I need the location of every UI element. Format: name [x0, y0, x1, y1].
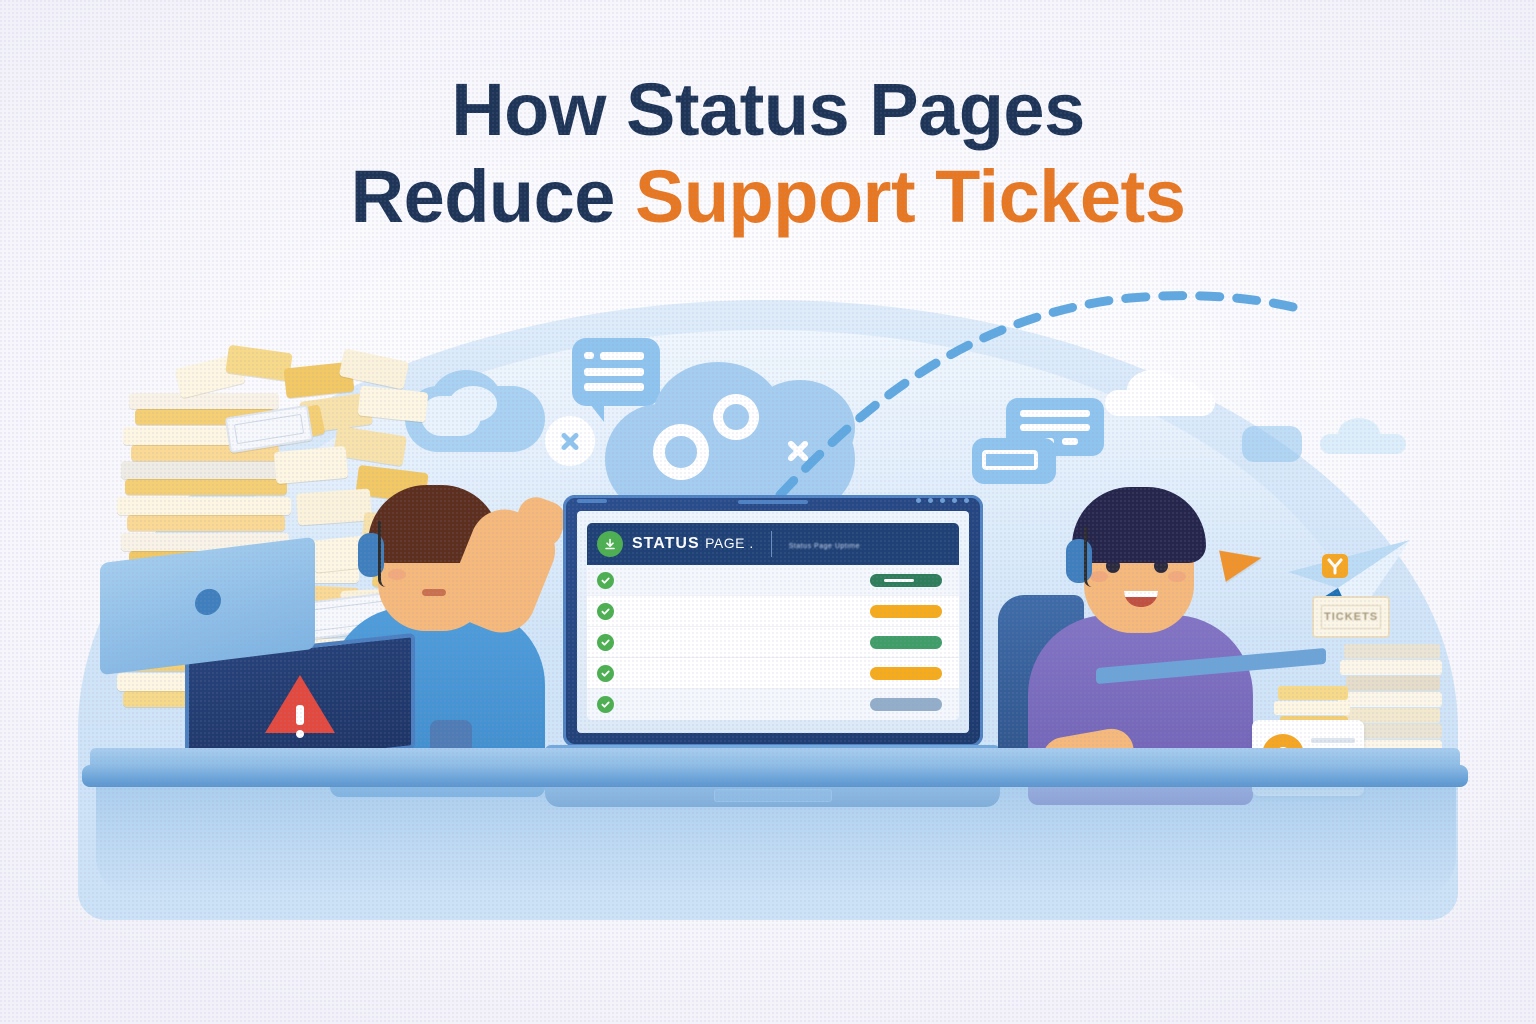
bubble-line: [600, 352, 644, 360]
x-icon: [545, 416, 595, 466]
illustration-scene: STATUS PAGE . Status Page Uptime: [0, 250, 1536, 910]
bubble-line: [1020, 424, 1090, 431]
ticket: [1340, 660, 1442, 675]
download-circle-icon: [597, 531, 623, 557]
status-pill-cell: [863, 698, 949, 711]
ticket-stack-label: TICKETS: [1312, 596, 1390, 638]
page-title: How Status Pages Reduce Support Tickets: [0, 72, 1536, 235]
envelope: [125, 479, 287, 495]
ticket: [1338, 692, 1442, 707]
headline-line-2-highlight: Support Tickets: [635, 155, 1185, 238]
status-page-screen: STATUS PAGE . Status Page Uptime: [577, 511, 969, 733]
table-row[interactable]: [587, 596, 959, 627]
bubble-line: [584, 352, 594, 359]
laptop-lid: STATUS PAGE . Status Page Uptime: [563, 495, 983, 747]
agent-hair: [1072, 487, 1206, 563]
check-circle-icon: [597, 603, 614, 620]
check-circle-icon: [597, 572, 614, 589]
ticket: [1344, 644, 1440, 659]
laptop-indicator-dots: [916, 498, 969, 503]
status-pill-cell: [863, 636, 949, 649]
status-badge[interactable]: [870, 667, 942, 680]
status-page-title-bold: STATUS: [632, 535, 700, 552]
header-divider: [771, 531, 772, 557]
check-circle-icon: [597, 665, 614, 682]
headline-line-2: Reduce Support Tickets: [0, 159, 1536, 234]
ticket: [1278, 686, 1348, 700]
headline-line-2-prefix: Reduce: [351, 155, 635, 238]
gear-icon: [653, 424, 709, 480]
status-page-meta: Status Page Uptime: [789, 535, 949, 553]
card-line: [1311, 738, 1355, 743]
status-pill-cell: [863, 667, 949, 680]
status-page-title: STATUS PAGE .: [632, 535, 754, 553]
envelope: [117, 497, 291, 515]
table-row[interactable]: [587, 565, 959, 596]
ticket: [1346, 676, 1440, 691]
ticket-stack-label-text: TICKETS: [1321, 605, 1381, 629]
bubble-line: [1062, 438, 1078, 445]
gear-icon: [713, 394, 759, 440]
warning-exclamation: [296, 705, 304, 725]
laptop-camera-bar: [738, 500, 808, 504]
status-page-meta-text: Status Page Uptime: [789, 543, 860, 550]
warning-exclamation-dot: [296, 730, 304, 738]
status-badge[interactable]: [870, 605, 942, 618]
desk-reflection: [96, 787, 1456, 897]
chat-bubble-icon: [1242, 426, 1302, 462]
envelope: [121, 461, 287, 479]
status-pill-cell: [863, 605, 949, 618]
cloud-icon: [1105, 368, 1215, 416]
status-badge[interactable]: [870, 636, 942, 649]
status-page-header: STATUS PAGE . Status Page Uptime: [587, 523, 959, 565]
envelope: [129, 393, 279, 409]
envelope: [127, 515, 285, 531]
status-pill-cell: [863, 574, 949, 587]
illustration-canvas: How Status Pages Reduce Support Tickets: [0, 0, 1536, 1024]
desk-surface: [82, 765, 1468, 787]
status-badge[interactable]: [870, 574, 942, 587]
table-row[interactable]: [587, 627, 959, 658]
laptop-hinge-dash: [577, 499, 607, 503]
table-row[interactable]: [587, 658, 959, 689]
status-badge[interactable]: [870, 698, 942, 711]
bubble-line: [1020, 410, 1090, 417]
table-row[interactable]: [587, 689, 959, 720]
status-page-rows: [587, 565, 959, 720]
cloud-icon: [1320, 418, 1406, 454]
ticket: [1274, 701, 1350, 715]
check-circle-icon: [597, 696, 614, 713]
check-circle-icon: [597, 634, 614, 651]
status-page-title-light: PAGE .: [705, 535, 754, 551]
headline-line-1: How Status Pages: [0, 72, 1536, 147]
